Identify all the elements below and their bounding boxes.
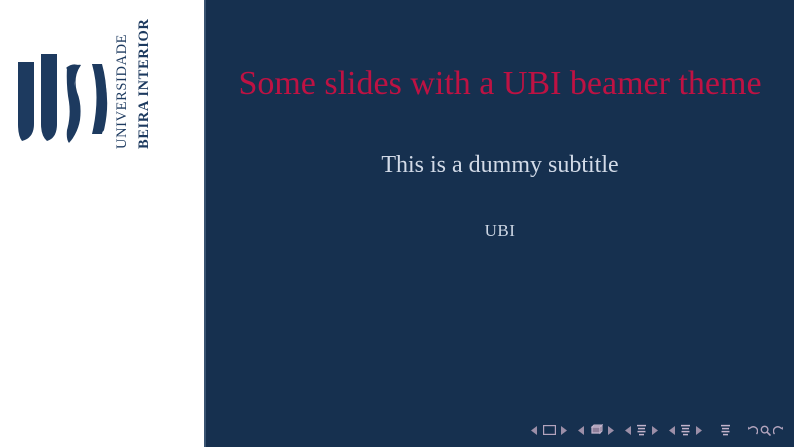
slide-institute: UBI — [236, 179, 764, 241]
ubi-logo: UNIVERSIDADE BEIRA INTERIOR — [14, 8, 190, 156]
next-section-icon[interactable] — [693, 424, 704, 437]
slide-subtitle: This is a dummy subtitle — [236, 106, 764, 179]
frame-icon[interactable] — [589, 424, 603, 437]
nav-group-section[interactable] — [667, 424, 704, 437]
nav-group-subsection[interactable] — [623, 424, 660, 437]
slide-content-area: Some slides with a UBI beamer theme This… — [206, 0, 794, 447]
search-icon[interactable] — [760, 424, 771, 437]
back-icon[interactable] — [747, 424, 758, 437]
slide-icon[interactable] — [542, 424, 556, 437]
logo-sidebar: UNIVERSIDADE BEIRA INTERIOR — [0, 0, 204, 447]
prev-frame-icon[interactable] — [576, 424, 587, 437]
beamer-navigation-bar[interactable] — [529, 422, 784, 438]
section-icon[interactable] — [680, 424, 691, 437]
subsection-icon[interactable] — [636, 424, 647, 437]
slide-title: Some slides with a UBI beamer theme — [236, 62, 764, 106]
prev-slide-icon[interactable] — [529, 424, 540, 437]
nav-group-presentation[interactable] — [720, 424, 731, 437]
ubi-logo-wordmark: UNIVERSIDADE BEIRA INTERIOR — [100, 8, 190, 156]
nav-group-slide[interactable] — [529, 424, 569, 437]
logo-text-beira-interior: BEIRA INTERIOR — [136, 19, 153, 149]
next-frame-icon[interactable] — [605, 424, 616, 437]
presentation-icon[interactable] — [720, 424, 731, 437]
title-block: Some slides with a UBI beamer theme This… — [236, 62, 764, 241]
sidebar-divider — [204, 0, 206, 447]
next-subsection-icon[interactable] — [649, 424, 660, 437]
ubi-logo-mark-icon — [14, 46, 110, 148]
beamer-title-slide: UNIVERSIDADE BEIRA INTERIOR Some slides … — [0, 0, 794, 447]
nav-group-history[interactable] — [747, 424, 784, 437]
logo-text-universidade: UNIVERSIDADE — [114, 34, 131, 149]
prev-section-icon[interactable] — [667, 424, 678, 437]
prev-subsection-icon[interactable] — [623, 424, 634, 437]
next-slide-icon[interactable] — [558, 424, 569, 437]
nav-group-frame[interactable] — [576, 424, 616, 437]
forward-icon[interactable] — [773, 424, 784, 437]
